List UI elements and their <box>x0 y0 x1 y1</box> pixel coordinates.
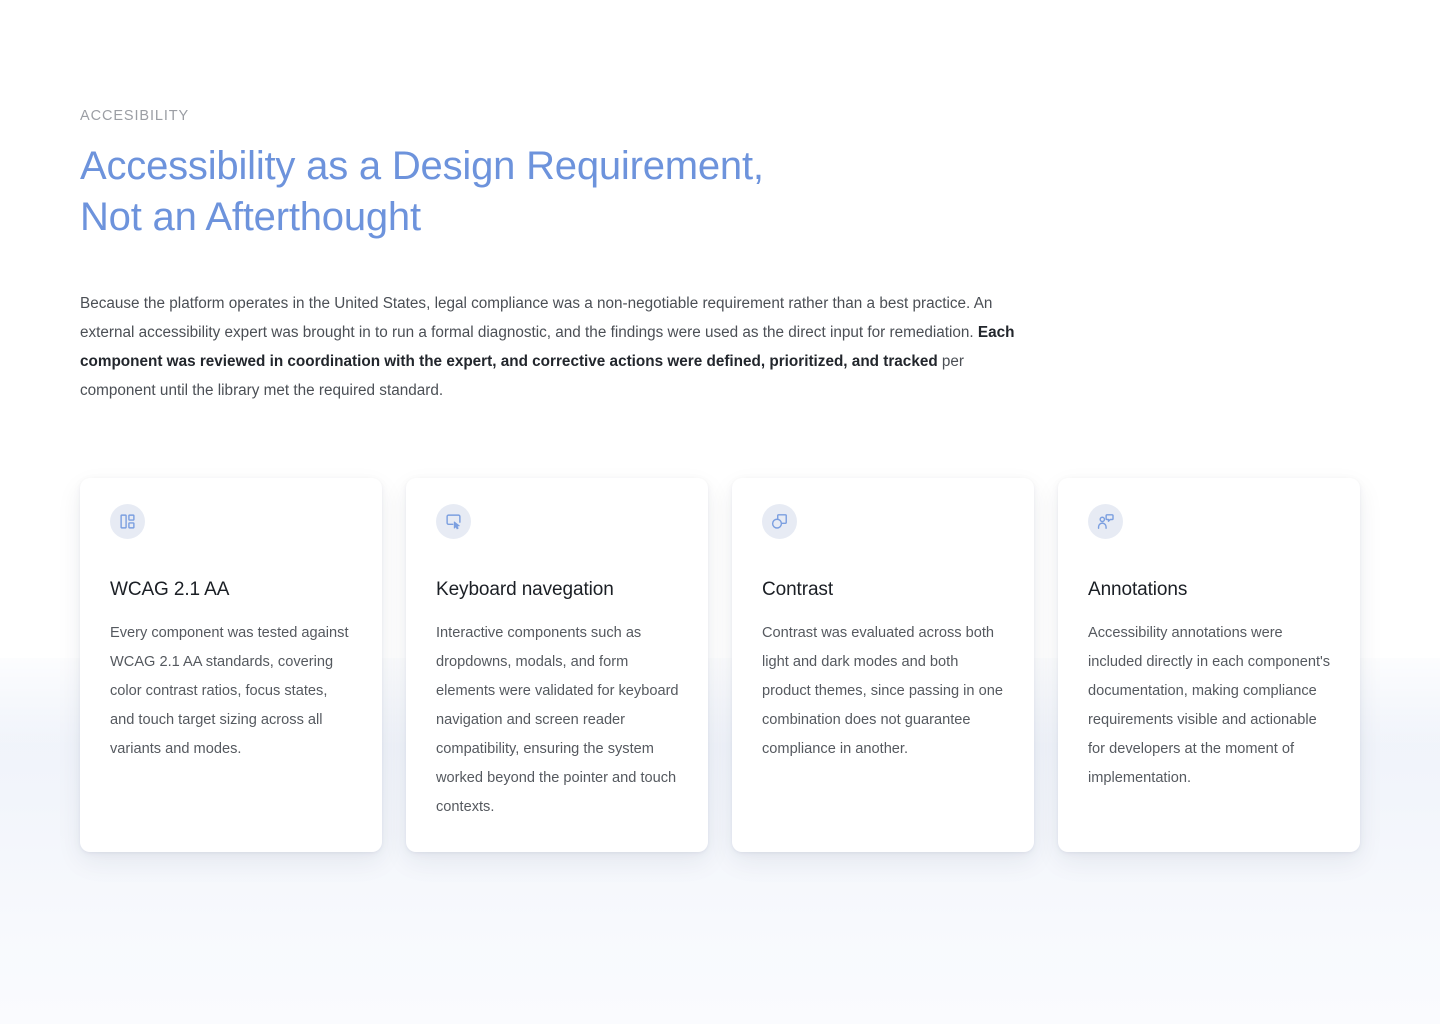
layout-dashboard-icon-badge <box>110 504 145 539</box>
feature-card-keyboard-navigation[interactable]: Keyboard navegation Interactive componen… <box>406 478 708 852</box>
feature-card-body: Contrast was evaluated across both light… <box>762 619 1006 764</box>
feature-card-body: Accessibility annotations were included … <box>1088 619 1332 793</box>
monitor-pointer-icon <box>445 513 462 530</box>
intro-paragraph: Because the platform operates in the Uni… <box>80 289 1020 405</box>
intro-text-part-1: Because the platform operates in the Uni… <box>80 295 992 341</box>
headline-line-1: Accessibility as a Design Requirement, <box>80 144 764 188</box>
feature-card-wcag[interactable]: WCAG 2.1 AA Every component was tested a… <box>80 478 382 852</box>
feature-card-title: WCAG 2.1 AA <box>110 577 354 603</box>
feature-card-contrast[interactable]: Contrast Contrast was evaluated across b… <box>732 478 1034 852</box>
contrast-circle-square-icon <box>771 513 788 530</box>
person-speech-bubble-icon-badge <box>1088 504 1123 539</box>
contrast-circle-square-icon-badge <box>762 504 797 539</box>
layout-dashboard-icon <box>119 513 136 530</box>
feature-card-annotations[interactable]: Annotations Accessibility annotations we… <box>1058 478 1360 852</box>
section-eyebrow: ACCESIBILITY <box>80 108 1080 125</box>
page-title: Accessibility as a Design Requirement, N… <box>80 141 1080 243</box>
section-header: ACCESIBILITY Accessibility as a Design R… <box>80 108 1080 243</box>
feature-card-title: Keyboard navegation <box>436 577 680 603</box>
feature-card-title: Annotations <box>1088 577 1332 603</box>
feature-card-title: Contrast <box>762 577 1006 603</box>
accessibility-section-page: ACCESIBILITY Accessibility as a Design R… <box>0 0 1440 1024</box>
feature-card-body: Every component was tested against WCAG … <box>110 619 354 764</box>
feature-card-body: Interactive components such as dropdowns… <box>436 619 680 822</box>
feature-card-grid: WCAG 2.1 AA Every component was tested a… <box>80 478 1360 852</box>
person-speech-bubble-icon <box>1097 513 1114 530</box>
monitor-pointer-icon-badge <box>436 504 471 539</box>
headline-line-2: Not an Afterthought <box>80 195 421 239</box>
